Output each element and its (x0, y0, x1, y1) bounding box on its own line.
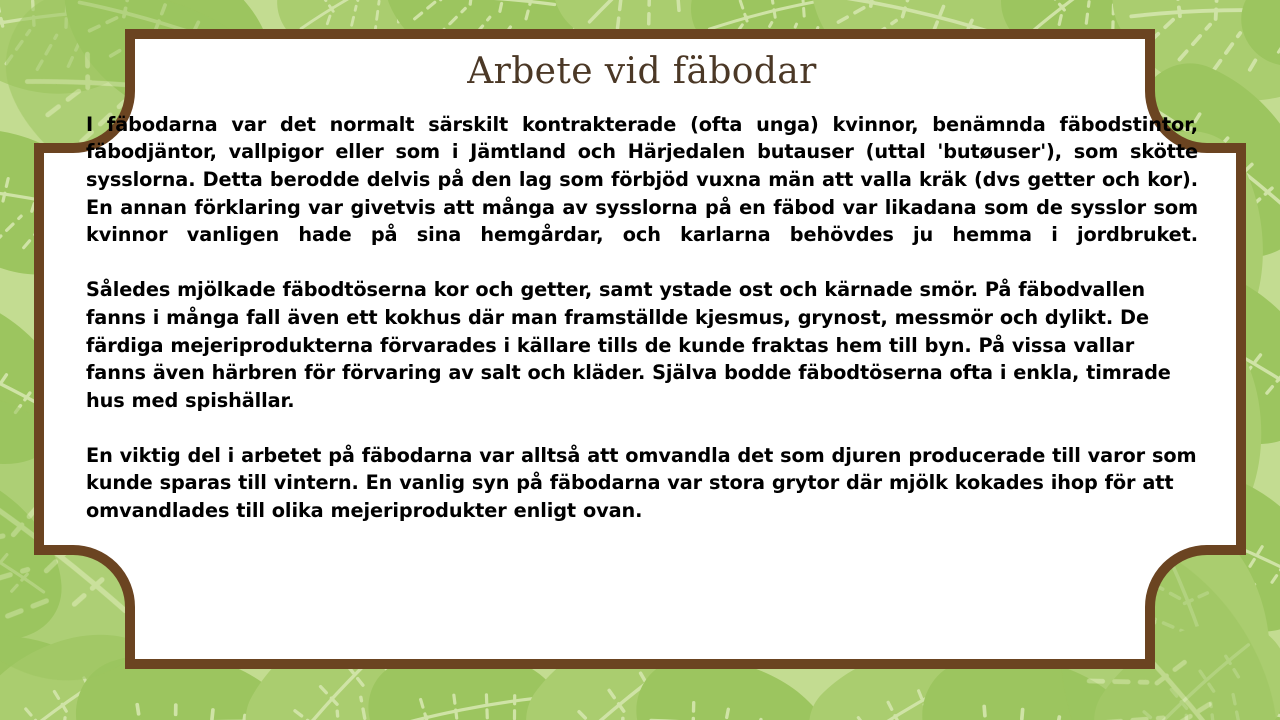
page-title: Arbete vid fäbodar (84, 51, 1200, 93)
body-text-block: I fäbodarna var det normalt särskilt kon… (84, 111, 1200, 525)
slide-canvas: Arbete vid fäbodar I fäbodarna var det n… (0, 0, 1280, 720)
card-content: Arbete vid fäbodar I fäbodarna var det n… (34, 29, 1246, 669)
paragraph-1: I fäbodarna var det normalt särskilt kon… (86, 111, 1198, 277)
paragraph-3: En viktig del i arbetet på fäbodarna var… (86, 442, 1198, 525)
paragraph-2: Således mjölkade fäbodtöserna kor och ge… (86, 276, 1198, 414)
